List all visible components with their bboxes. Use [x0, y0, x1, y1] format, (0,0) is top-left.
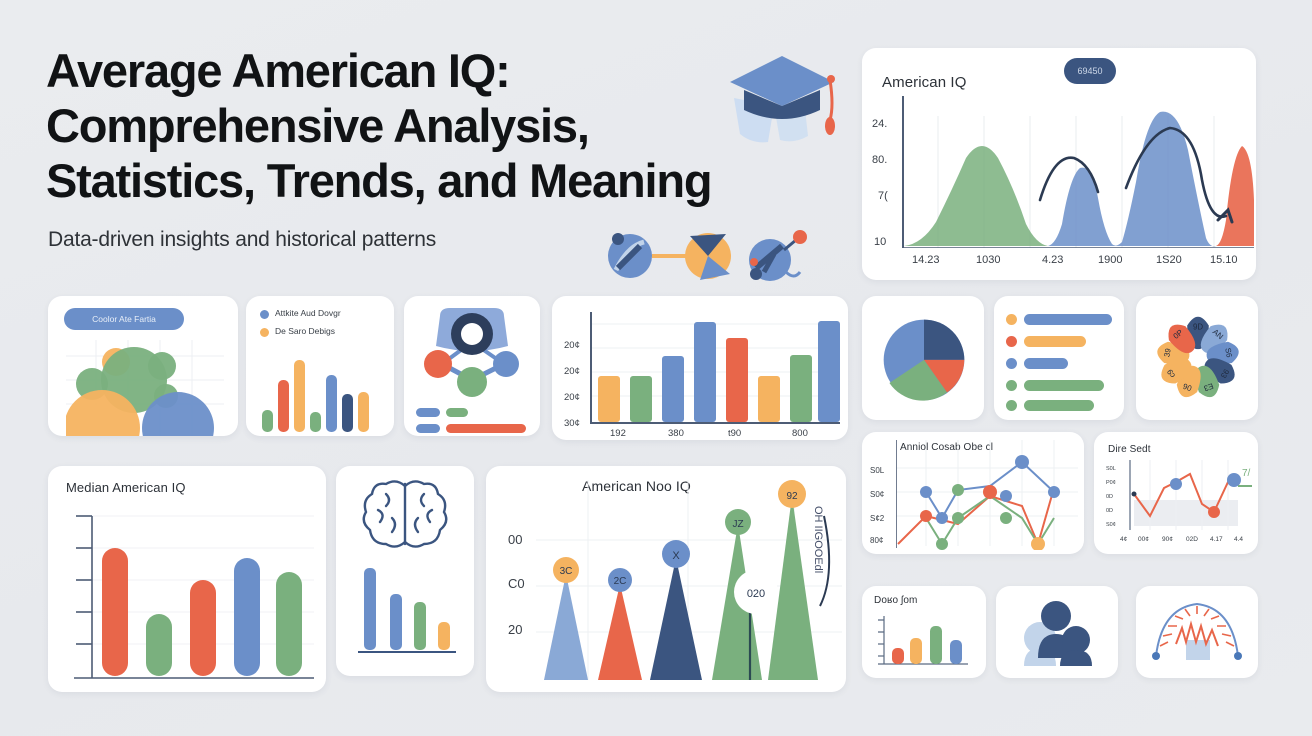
hero-chart-plot — [902, 72, 1254, 248]
page-subtitle: Data-driven insights and historical patt… — [48, 228, 436, 252]
network-legend-pill-2 — [416, 424, 440, 433]
network-card — [404, 296, 540, 436]
bell-curve-arc-icon — [1148, 598, 1246, 666]
pie-chart-card — [862, 296, 984, 420]
hero-y-tick-0: 24. — [872, 118, 887, 130]
spark-y-tick-4: S0¢ — [1106, 522, 1116, 528]
spark-x-tick-4: 4.17 — [1210, 536, 1223, 543]
mountain-y-tick-1: C0 — [508, 576, 525, 591]
legend-label-0: Attkite Aud Dovgr — [275, 308, 341, 318]
hero-x-tick-2: 4.23 — [1042, 254, 1063, 266]
list-bar-4 — [1024, 400, 1094, 411]
legend-dot-1 — [260, 328, 269, 337]
hero-y-tick-3: 10 — [874, 236, 886, 248]
line-y-tick-3: 80¢ — [870, 536, 883, 545]
mountain-y-tick-0: 00 — [508, 532, 522, 547]
abstract-circle-icon-1 — [604, 228, 814, 284]
line-y-tick-1: S0¢ — [870, 490, 884, 499]
list-bars-card — [994, 296, 1124, 420]
sparkline-plot: 7/ — [1120, 460, 1252, 534]
bubble-card-badge: Coolor Ate Fartia — [64, 308, 184, 330]
brain-icon — [358, 474, 452, 552]
sparkline-card: Dire Sedt S0L P0¢ 0D 0D S0¢ 7/ 4¢ 00¢ 90… — [1094, 432, 1258, 554]
hero-chart-card: American IQ 69450 24. 80. 7( 10 14.23 10… — [862, 48, 1256, 280]
median-iq-title: Median American IQ — [66, 480, 186, 495]
bar-y-tick-3: 30¢ — [564, 418, 580, 429]
sparkline-title: Dire Sedt — [1108, 444, 1151, 455]
petal-chart-card: 9D AN S6 93 E3 06 c9 39 0P — [1136, 296, 1258, 420]
bar-x-tick-2: t90 — [728, 428, 741, 439]
list-bar-0 — [1024, 314, 1112, 325]
spark-x-tick-3: 02D — [1186, 536, 1198, 543]
small-bar-title: Doʁo ʃom — [874, 595, 917, 606]
legend-bars-plot — [260, 348, 384, 432]
bubble-chart-card: Coolor Ate Fartia — [48, 296, 238, 436]
line-y-tick-2: S¢2 — [870, 514, 884, 523]
legend-bars-card: Attkite Aud Dovgr De Saro Debigs — [246, 296, 394, 436]
network-legend-pill-3 — [446, 424, 526, 433]
small-bar-plot — [872, 612, 976, 674]
petal-chart-plot: 9D AN S6 93 E3 06 c9 39 0P — [1144, 302, 1252, 414]
list-dot-2 — [1006, 358, 1017, 369]
list-dot-1 — [1006, 336, 1017, 347]
spark-y-tick-1: P0¢ — [1106, 480, 1116, 486]
spark-x-tick-0: 4¢ — [1120, 536, 1127, 543]
spark-y-tick-0: S0L — [1106, 466, 1116, 472]
svg-text:7/: 7/ — [1242, 468, 1251, 479]
hero-x-tick-0: 14.23 — [912, 254, 940, 266]
spark-y-tick-2: 0D — [1106, 494, 1113, 500]
list-dot-3 — [1006, 380, 1017, 391]
abstract-circle-icon-3 — [749, 230, 807, 281]
hero-x-tick-1: 1030 — [976, 254, 1000, 266]
hero-y-tick-1: 80. — [872, 154, 887, 166]
network-legend-pill-1 — [446, 408, 468, 417]
svg-text:020: 020 — [747, 588, 765, 600]
list-dot-4 — [1006, 400, 1017, 411]
brain-card — [336, 466, 474, 676]
pie-chart-plot — [876, 306, 972, 410]
list-bar-3 — [1024, 380, 1104, 391]
network-legend-pill-0 — [416, 408, 440, 417]
svg-text:X: X — [672, 550, 680, 562]
svg-text:2C: 2C — [614, 576, 627, 587]
page-title-line-3: Statistics, Trends, and Meaning — [46, 154, 846, 209]
line-chart-card: Anniol Cosab Obe cl S0L S0¢ S¢2 80¢ — [862, 432, 1084, 554]
svg-text:9D: 9D — [1193, 323, 1203, 332]
svg-text:92: 92 — [786, 491, 798, 502]
bar-chart-plot — [590, 310, 840, 422]
hero-x-tick-3: 1900 — [1098, 254, 1122, 266]
list-dot-0 — [1006, 314, 1017, 325]
line-chart-plot — [896, 440, 1078, 550]
list-bar-1 — [1024, 336, 1086, 347]
median-iq-plot — [72, 508, 314, 684]
people-card — [996, 586, 1118, 678]
graduation-cap-icon — [722, 48, 842, 148]
legend-dot-0 — [260, 310, 269, 319]
small-bar-card: Doʁo ʃom — [862, 586, 986, 678]
bubble-chart-plot — [66, 340, 224, 436]
bar-chart-card: 20¢ 20¢ 20¢ 30¢ 80¢ 192 380 t90 800 — [552, 296, 848, 440]
svg-text:39: 39 — [1162, 348, 1172, 358]
arc-card — [1136, 586, 1258, 678]
spark-x-tick-5: 4.4 — [1234, 536, 1243, 543]
bar-y-tick-2: 20¢ — [564, 392, 580, 403]
legend-label-1: De Saro Debigs — [275, 326, 335, 336]
hero-x-tick-4: 1S20 — [1156, 254, 1182, 266]
bar-x-tick-1: 380 — [668, 428, 684, 439]
bar-y-tick-0: 20¢ — [564, 340, 580, 351]
hero-x-tick-5: 15.10 — [1210, 254, 1238, 266]
svg-text:3C: 3C — [560, 566, 573, 577]
line-y-tick-0: S0L — [870, 466, 884, 475]
bar-x-tick-0: 192 — [610, 428, 626, 439]
svg-text:JZ: JZ — [732, 519, 743, 530]
mountain-y-tick-2: 20 — [508, 622, 522, 637]
brain-card-bars — [356, 562, 458, 660]
median-iq-card: Median American IQ — [48, 466, 326, 692]
list-bar-2 — [1024, 358, 1068, 369]
mountain-vertical-label: OH IIGOOEdl — [812, 506, 824, 573]
mountain-chart-card: American Noo IQ 00 C0 20 3C 2C X — [486, 466, 846, 692]
spark-y-tick-3: 0D — [1106, 508, 1113, 514]
spark-x-tick-1: 00¢ — [1138, 536, 1149, 543]
mountain-chart-plot: 3C 2C X JZ 92 020 — [536, 480, 842, 686]
people-group-icon — [1014, 600, 1100, 666]
network-graph-icon — [414, 306, 530, 402]
hero-y-tick-2: 7( — [878, 190, 888, 202]
bar-x-tick-3: 800 — [792, 428, 808, 439]
bar-y-tick-1: 20¢ — [564, 366, 580, 377]
infographic-canvas: Average American IQ: Comprehensive Analy… — [0, 0, 1312, 736]
spark-x-tick-2: 90¢ — [1162, 536, 1173, 543]
